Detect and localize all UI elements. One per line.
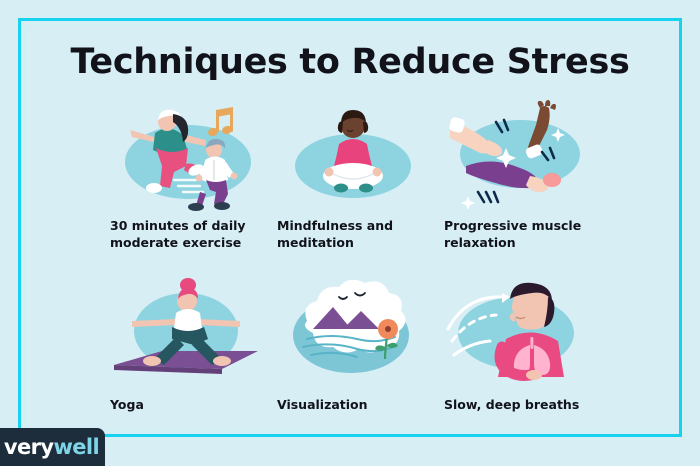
logo-text-well: well xyxy=(53,435,99,459)
muscle-relaxation-illustration xyxy=(444,100,604,212)
page-title: Techniques to Reduce Stress xyxy=(0,42,700,82)
technique-card-yoga: Yoga xyxy=(110,275,277,435)
technique-label: Progressive muscle relaxation xyxy=(444,218,594,251)
verywell-logo: verywell xyxy=(0,428,105,466)
breathing-illustration xyxy=(444,275,604,387)
technique-label: Slow, deep breaths xyxy=(444,397,594,414)
technique-card-progressive-muscle-relaxation: Progressive muscle relaxation xyxy=(444,100,611,260)
technique-card-mindfulness: Mindfulness and meditation xyxy=(277,100,444,260)
technique-label: Mindfulness and meditation xyxy=(277,218,427,251)
exercise-illustration xyxy=(110,100,270,212)
logo-text: verywell xyxy=(0,435,99,459)
logo-text-very: very xyxy=(4,435,54,459)
techniques-grid: 30 minutes of daily moderate exercise xyxy=(110,100,610,420)
technique-card-exercise: 30 minutes of daily moderate exercise xyxy=(110,100,277,260)
stress-techniques-infographic: Techniques to Reduce Stress xyxy=(0,0,700,466)
visualization-illustration xyxy=(277,275,437,387)
meditation-illustration xyxy=(277,100,437,212)
yoga-illustration xyxy=(110,275,270,387)
technique-card-visualization: Visualization xyxy=(277,275,444,435)
technique-card-breathing: Slow, deep breaths xyxy=(444,275,611,435)
technique-label: 30 minutes of daily moderate exercise xyxy=(110,218,260,251)
technique-label: Visualization xyxy=(277,397,427,414)
technique-label: Yoga xyxy=(110,397,260,414)
